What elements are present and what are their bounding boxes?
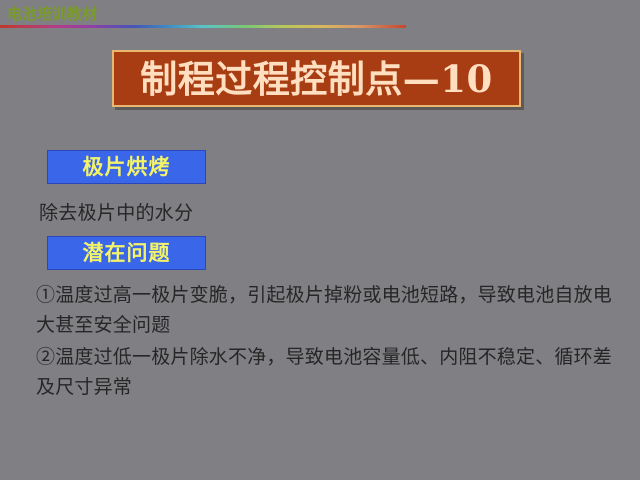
section-label-issues: 潜在问题 [47,236,206,270]
section-label-bake-text: 极片烘烤 [83,155,171,179]
section-label-bake: 极片烘烤 [47,150,206,184]
issue-item-1: ①温度过高一极片变脆，引起极片掉粉或电池短路，导致电池自放电大甚至安全问题 [36,280,622,340]
header-kicker-label: 电池培训教材 [7,6,97,23]
section-bake-description: 除去极片中的水分 [39,198,599,228]
issue-item-2: ②温度过低一极片除水不净，导致电池容量低、内阻不稳定、循环差及尺寸异常 [36,342,622,402]
slide-title-banner: 制程过程控制点—10 [112,50,521,107]
section-label-issues-text: 潜在问题 [83,241,171,265]
page-title: 制程过程控制点—10 [140,59,493,99]
slide-canvas: 电池培训教材 制程过程控制点—10 极片烘烤 除去极片中的水分 潜在问题 ①温度… [0,0,640,480]
header-gradient-divider [0,25,406,28]
